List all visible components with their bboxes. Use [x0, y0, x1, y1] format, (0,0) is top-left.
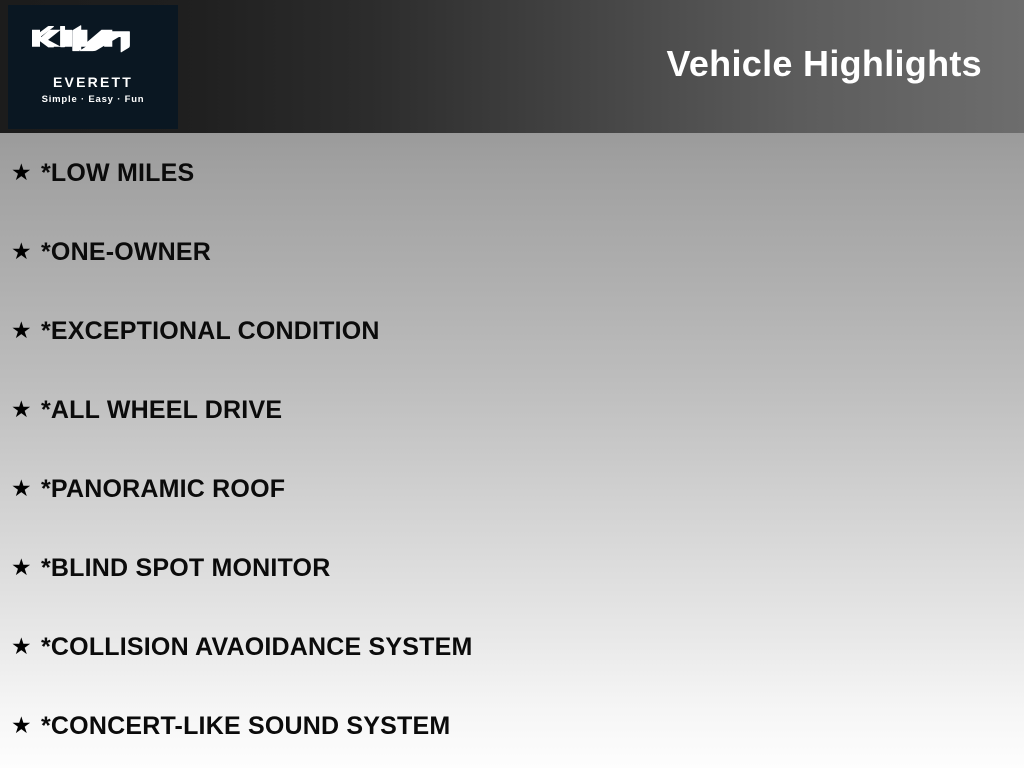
star-icon: ★ — [11, 240, 41, 263]
dealer-tagline: Simple · Easy · Fun — [42, 94, 145, 105]
list-item: ★ *ONE-OWNER — [0, 212, 1024, 291]
star-icon: ★ — [11, 398, 41, 421]
star-icon: ★ — [11, 477, 41, 500]
list-item-label: *COLLISION AVAOIDANCE SYSTEM — [41, 633, 473, 661]
list-item-label: *CONCERT-LIKE SOUND SYSTEM — [41, 712, 450, 740]
dealer-logo-card[interactable]: EVERETT Simple · Easy · Fun — [8, 5, 178, 129]
vehicle-highlights-page: EVERETT Simple · Easy · Fun Vehicle High… — [0, 0, 1024, 768]
list-item: ★ *EXCEPTIONAL CONDITION — [0, 291, 1024, 370]
kia-logo-icon — [31, 23, 155, 54]
list-item-label: *BLIND SPOT MONITOR — [41, 554, 330, 582]
star-icon: ★ — [11, 635, 41, 658]
list-item: ★ *CONCERT-LIKE SOUND SYSTEM — [0, 686, 1024, 765]
page-title: Vehicle Highlights — [667, 42, 982, 86]
star-icon: ★ — [11, 161, 41, 184]
list-item-label: *LOW MILES — [41, 159, 194, 187]
page-header: EVERETT Simple · Easy · Fun Vehicle High… — [0, 0, 1024, 133]
list-item: ★ *COLLISION AVAOIDANCE SYSTEM — [0, 607, 1024, 686]
list-item: ★ *ALL WHEEL DRIVE — [0, 370, 1024, 449]
list-item-label: *ONE-OWNER — [41, 238, 211, 266]
star-icon: ★ — [11, 319, 41, 342]
highlights-list: ★ *LOW MILES ★ *ONE-OWNER ★ *EXCEPTIONAL… — [0, 133, 1024, 765]
list-item-label: *ALL WHEEL DRIVE — [41, 396, 282, 424]
dealer-name: EVERETT — [53, 74, 133, 90]
list-item: ★ *LOW MILES — [0, 133, 1024, 212]
list-item-label: *EXCEPTIONAL CONDITION — [41, 317, 380, 345]
highlights-section: ★ *LOW MILES ★ *ONE-OWNER ★ *EXCEPTIONAL… — [0, 133, 1024, 768]
list-item: ★ *PANORAMIC ROOF — [0, 449, 1024, 528]
star-icon: ★ — [11, 556, 41, 579]
star-icon: ★ — [11, 714, 41, 737]
list-item-label: *PANORAMIC ROOF — [41, 475, 285, 503]
list-item: ★ *BLIND SPOT MONITOR — [0, 528, 1024, 607]
